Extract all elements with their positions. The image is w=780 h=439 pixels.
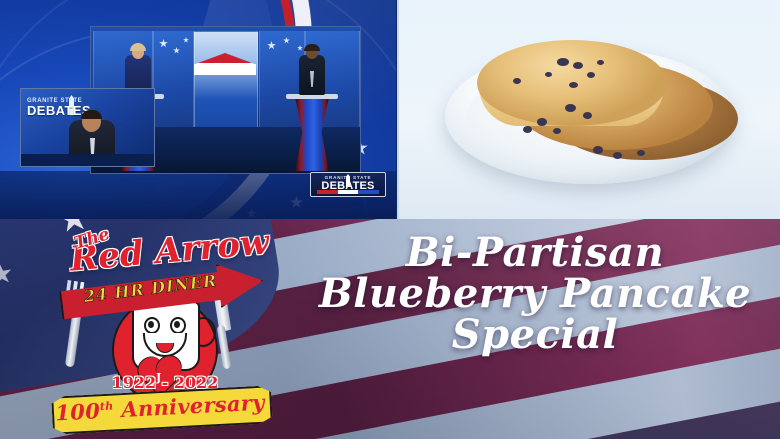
pancake-photo (397, 0, 780, 219)
moderator-hair (81, 110, 102, 119)
promo-graphic: GRANITE STATE DEBATES GRANITE STATE DEBA… (0, 0, 780, 439)
bug-flag-bar (317, 190, 379, 194)
headline-line-3: Special (300, 315, 770, 356)
mug-pupil-right (174, 321, 180, 328)
photo-edge (397, 0, 780, 219)
headline-line-2: Blueberry Pancake (300, 274, 770, 315)
flag-band: Bi-Partisan Blueberry Pancake Special J (0, 219, 780, 439)
red-arrow-diner-logo: J 24 HR DINER Red Arrow The 1922 - 2022 … (30, 225, 280, 425)
heart-initial: J (156, 371, 161, 384)
headline-line-1: Bi-Partisan (300, 233, 770, 274)
knife-handle-icon (217, 325, 232, 370)
anniversary-number: 100 (55, 398, 101, 425)
debate-broadcast-panel: GRANITE STATE DEBATES GRANITE STATE DEBA… (0, 0, 396, 219)
granite-state-debates-bug: GRANITE STATE DEBATES (310, 172, 386, 197)
candidate-right-hair (304, 44, 320, 51)
mug-pupil-left (148, 321, 154, 328)
anniversary-suffix: th (100, 399, 114, 413)
moderator-desk (21, 154, 154, 166)
studio-wall-panel (153, 31, 194, 139)
moderator-inset: GRANITE STATE DEBATES (20, 88, 155, 167)
headline: Bi-Partisan Blueberry Pancake Special (300, 233, 770, 355)
